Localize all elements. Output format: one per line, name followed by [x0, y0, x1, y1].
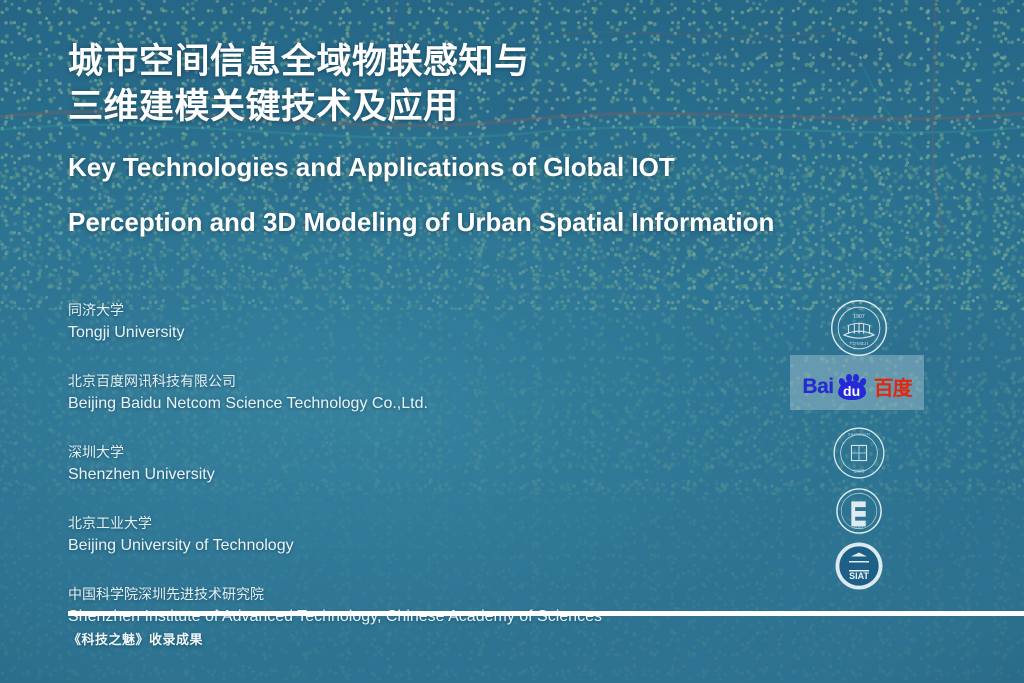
logo-column: 1907 TONGJI 1983 SHENZHEN: [826, 296, 892, 592]
affiliation-en: Beijing Baidu Netcom Science Technology …: [68, 392, 808, 416]
logo-shenzhen-university: 1983 SHENZHEN: [826, 424, 892, 482]
affiliation-cn: 深圳大学: [68, 442, 808, 463]
logo-beijing-university-of-technology: BJUT: [826, 486, 892, 536]
tongji-seal-icon: 1907 TONGJI: [830, 299, 888, 357]
baidu-latin-left: Bai: [802, 375, 833, 399]
svg-text:TONGJI: TONGJI: [849, 341, 868, 346]
svg-text:BJUT: BJUT: [854, 525, 864, 529]
affiliation-en: Tongji University: [68, 321, 808, 345]
page-title-cn-line1: 城市空间信息全域物联感知与: [68, 40, 888, 85]
affiliation-item-siat: 中国科学院深圳先进技术研究院 Shenzhen Institute of Adv…: [68, 584, 808, 629]
bjut-seal-icon: BJUT: [835, 487, 883, 535]
baidu-chinese-wordmark: 百度: [874, 372, 912, 401]
affiliation-item-shenzhen-university: 深圳大学 Shenzhen University: [68, 442, 808, 487]
svg-text:SHENZHEN: SHENZHEN: [848, 433, 870, 437]
shenzhen-university-seal-icon: 1983 SHENZHEN: [832, 426, 886, 480]
affiliation-cn: 中国科学院深圳先进技术研究院: [68, 584, 808, 605]
baidu-latin-right: du: [837, 383, 867, 400]
logo-siat: SIAT: [826, 540, 892, 592]
logo-tongji-university: 1907 TONGJI: [826, 296, 892, 360]
affiliation-cn: 北京百度网讯科技有限公司: [68, 371, 808, 392]
slide-content: 城市空间信息全域物联感知与 三维建模关键技术及应用 Key Technologi…: [0, 0, 1024, 683]
affiliation-item-baidu: 北京百度网讯科技有限公司 Beijing Baidu Netcom Scienc…: [68, 371, 808, 416]
svg-text:1907: 1907: [853, 314, 865, 320]
affiliation-cn: 北京工业大学: [68, 513, 808, 534]
baidu-wordmark: Bai du 百度: [802, 372, 911, 401]
title-slide: 城市空间信息全域物联感知与 三维建模关键技术及应用 Key Technologi…: [0, 0, 1024, 683]
page-title-cn-line2: 三维建模关键技术及应用: [68, 85, 888, 130]
svg-text:1983: 1983: [854, 468, 865, 474]
siat-logo-icon: SIAT: [834, 541, 884, 591]
baidu-paw-icon: du: [837, 374, 867, 400]
title-block: 城市空间信息全域物联感知与 三维建模关键技术及应用 Key Technologi…: [68, 40, 888, 241]
affiliation-cn: 同济大学: [68, 300, 808, 321]
affiliation-list: 同济大学 Tongji University 北京百度网讯科技有限公司 Beij…: [68, 300, 808, 629]
affiliation-item-tongji: 同济大学 Tongji University: [68, 300, 808, 345]
footer-note: 《科技之魅》收录成果: [68, 629, 203, 648]
logo-baidu: Bai du 百度: [790, 355, 924, 410]
page-subtitle-en-line1: Key Technologies and Applications of Glo…: [68, 150, 888, 186]
affiliation-item-bjut: 北京工业大学 Beijing University of Technology: [68, 513, 808, 558]
page-subtitle-en-line2: Perception and 3D Modeling of Urban Spat…: [68, 205, 888, 241]
svg-text:SIAT: SIAT: [849, 571, 869, 581]
affiliation-en: Beijing University of Technology: [68, 534, 808, 558]
footer-divider: [68, 611, 1024, 616]
affiliation-en: Shenzhen University: [68, 463, 808, 487]
affiliation-en: Shenzhen Institute of Advanced Technolog…: [68, 605, 808, 629]
